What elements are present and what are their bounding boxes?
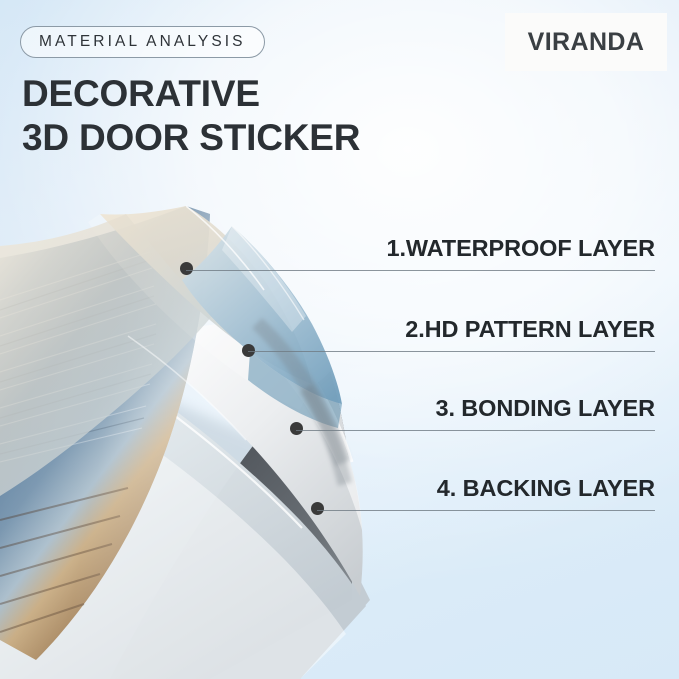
eyebrow-label: MATERIAL ANALYSIS bbox=[39, 33, 246, 51]
eyebrow-badge: MATERIAL ANALYSIS bbox=[20, 26, 265, 58]
callout-dot-1 bbox=[180, 262, 193, 275]
title-line-2: 3D DOOR STICKER bbox=[22, 116, 360, 160]
callout-4: 4. BACKING LAYER bbox=[300, 476, 655, 511]
brand-logo: VIRANDA bbox=[505, 13, 667, 71]
callout-2: 2.HD PATTERN LAYER bbox=[300, 317, 655, 352]
brand-name: VIRANDA bbox=[528, 28, 645, 57]
poster-canvas: MATERIAL ANALYSIS DECORATIVE 3D DOOR STI… bbox=[0, 0, 679, 679]
callout-label-4: 4. BACKING LAYER bbox=[437, 475, 655, 502]
page-title: DECORATIVE 3D DOOR STICKER bbox=[22, 72, 360, 160]
callout-label-3: 3. BONDING LAYER bbox=[435, 395, 655, 422]
callout-1: 1.WATERPROOF LAYER bbox=[300, 236, 655, 271]
title-line-1: DECORATIVE bbox=[22, 73, 260, 114]
callout-3: 3. BONDING LAYER bbox=[300, 396, 655, 431]
callout-label-2: 2.HD PATTERN LAYER bbox=[405, 316, 655, 343]
callout-label-1: 1.WATERPROOF LAYER bbox=[387, 235, 656, 262]
